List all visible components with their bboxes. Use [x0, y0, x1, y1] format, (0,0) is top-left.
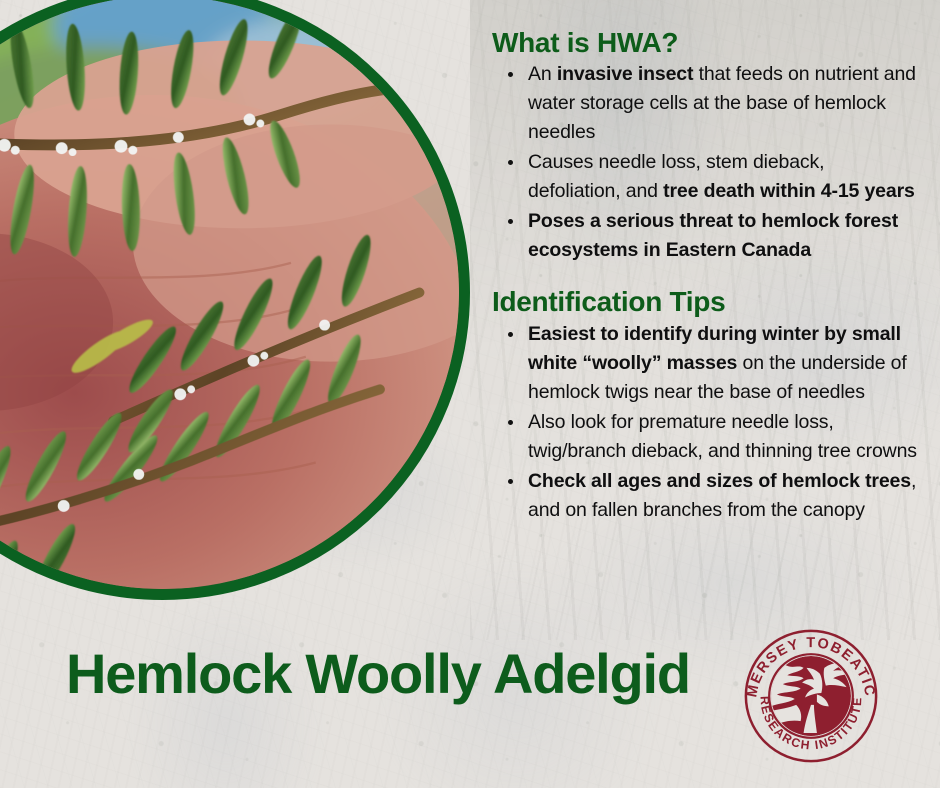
page-title: Hemlock Woolly Adelgid: [66, 646, 690, 702]
list-item: Causes needle loss, stem dieback, defoli…: [492, 148, 922, 206]
mersey-tobeatic-research-institute-logo: MERSEY TOBEATIC RESEARCH INSTITUTE: [737, 622, 885, 770]
bullet-dot-icon: [508, 332, 513, 337]
section-heading-identification-tips: Identification Tips: [492, 287, 922, 316]
bullet-text: Poses a serious threat to hemlock forest…: [528, 210, 898, 261]
list-item: Easiest to identify during winter by sma…: [492, 320, 922, 407]
list-item: Poses a serious threat to hemlock forest…: [492, 207, 922, 265]
bullet-text: Check all ages and sizes of hemlock tree…: [528, 470, 916, 521]
list-item: Also look for premature needle loss, twi…: [492, 408, 922, 466]
bullet-dot-icon: [508, 160, 513, 165]
infographic-poster: What is HWA? An invasive insect that fee…: [0, 0, 940, 788]
list-item: An invasive insect that feeds on nutrien…: [492, 60, 922, 147]
bullet-text: An invasive insect that feeds on nutrien…: [528, 63, 916, 143]
bullet-list-identification-tips: Easiest to identify during winter by sma…: [492, 320, 922, 525]
bullet-dot-icon: [508, 72, 513, 77]
list-item: Check all ages and sizes of hemlock tree…: [492, 467, 922, 525]
bullet-dot-icon: [508, 219, 513, 224]
moose-head-icon: [770, 656, 851, 736]
content-column: What is HWA? An invasive insect that fee…: [492, 28, 922, 526]
bullet-dot-icon: [508, 420, 513, 425]
bullet-text: Also look for premature needle loss, twi…: [528, 411, 917, 462]
bullet-text: Causes needle loss, stem dieback, defoli…: [528, 151, 915, 202]
bullet-list-what-is-hwa: An invasive insect that feeds on nutrien…: [492, 60, 922, 265]
bullet-text: Easiest to identify during winter by sma…: [528, 323, 907, 403]
bullet-dot-icon: [508, 479, 513, 484]
section-heading-what-is-hwa: What is HWA?: [492, 28, 922, 57]
